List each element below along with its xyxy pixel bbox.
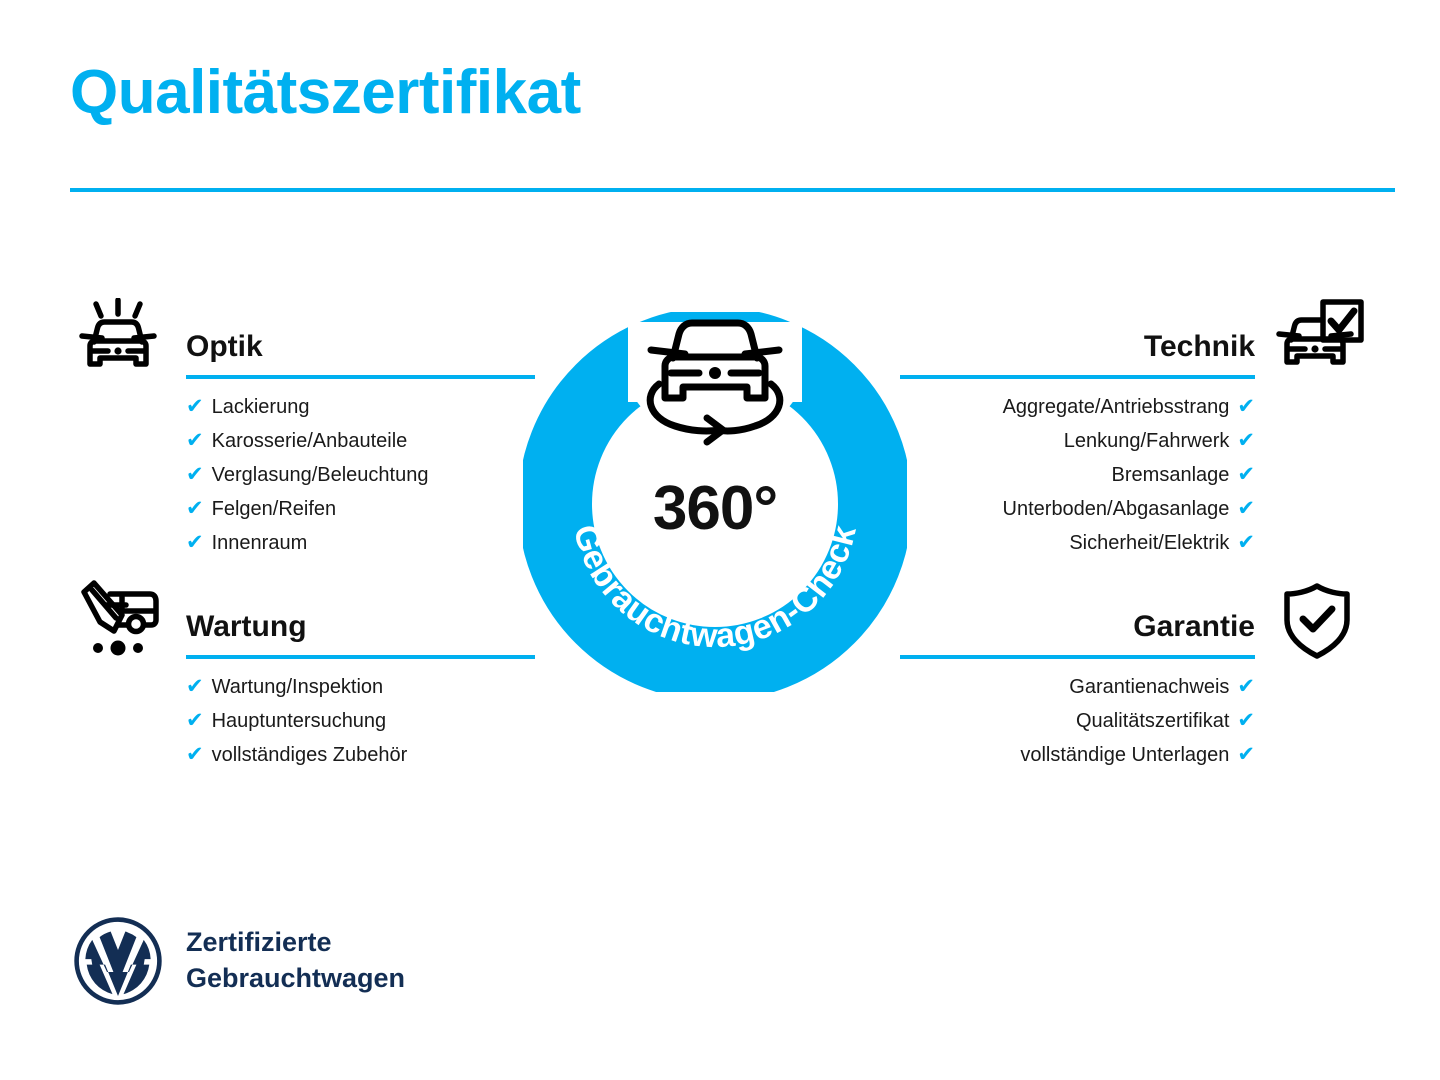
section-wartung-list: ✔Wartung/Inspektion ✔Hauptuntersuchung ✔… [70, 670, 535, 772]
section-garantie-title: Garantie [1133, 612, 1255, 642]
list-item-label: Felgen/Reifen [212, 492, 337, 526]
section-garantie: Garantie Garantienachweis✔ Qualitätszert… [900, 576, 1365, 772]
list-item: Garantienachweis✔ [900, 670, 1255, 704]
list-item: ✔Lackierung [186, 390, 535, 424]
section-technik-title: Technik [1144, 332, 1255, 362]
check-icon: ✔ [1237, 670, 1255, 704]
list-item: Aggregate/Antriebsstrang✔ [900, 390, 1255, 424]
section-optik-title-wrap: Optik [186, 296, 535, 384]
section-wartung-underline [186, 655, 535, 659]
section-wartung-title-wrap: Wartung [186, 576, 535, 664]
section-optik: Optik ✔Lackierung ✔Karosserie/Anbauteile… [70, 296, 535, 560]
list-item-label: Unterboden/Abgasanlage [1003, 492, 1230, 526]
check-icon: ✔ [1237, 424, 1255, 458]
check-icon: ✔ [186, 492, 204, 526]
list-item: ✔Verglasung/Beleuchtung [186, 458, 535, 492]
check-icon: ✔ [186, 670, 204, 704]
check-icon: ✔ [186, 738, 204, 772]
section-technik-title-wrap: Technik [900, 296, 1255, 384]
list-item: ✔Karosserie/Anbauteile [186, 424, 535, 458]
check-icon: ✔ [186, 526, 204, 560]
section-technik: Technik Aggregate/Antriebsstrang✔ Lenkun… [900, 296, 1365, 560]
check-icon: ✔ [1237, 390, 1255, 424]
gebrauchtwagen-check-badge: Gebrauchtwagen-Check 360° [520, 282, 910, 692]
check-icon: ✔ [186, 390, 204, 424]
list-item-label: Verglasung/Beleuchtung [212, 458, 429, 492]
list-item: ✔Hauptuntersuchung [186, 704, 535, 738]
badge-center-label: 360° [520, 478, 910, 540]
section-wartung: Wartung ✔Wartung/Inspektion ✔Hauptunters… [70, 576, 535, 772]
list-item: Sicherheit/Elektrik✔ [900, 526, 1255, 560]
list-item-label: Qualitätszertifikat [1076, 704, 1229, 738]
section-optik-header: Optik [70, 296, 535, 384]
list-item-label: vollständiges Zubehör [212, 738, 408, 772]
list-item-label: Lackierung [212, 390, 310, 424]
list-item: Unterboden/Abgasanlage✔ [900, 492, 1255, 526]
section-optik-list: ✔Lackierung ✔Karosserie/Anbauteile ✔Verg… [70, 390, 535, 560]
volkswagen-logo [72, 915, 164, 1007]
section-wartung-header: Wartung [70, 576, 535, 664]
certificate-page: Qualitätszertifikat Optik [0, 0, 1440, 1080]
list-item-label: Sicherheit/Elektrik [1069, 526, 1229, 560]
check-icon: ✔ [186, 424, 204, 458]
check-icon: ✔ [1237, 492, 1255, 526]
list-item: Lenkung/Fahrwerk✔ [900, 424, 1255, 458]
list-item-label: Karosserie/Anbauteile [212, 424, 408, 458]
list-item: vollständige Unterlagen✔ [900, 738, 1255, 772]
section-garantie-underline [900, 655, 1255, 659]
page-title: Qualitätszertifikat [70, 62, 581, 124]
check-icon: ✔ [1237, 458, 1255, 492]
header-divider [70, 188, 1395, 192]
check-icon: ✔ [186, 704, 204, 738]
list-item-label: vollständige Unterlagen [1020, 738, 1229, 772]
section-wartung-title: Wartung [186, 612, 307, 642]
section-garantie-header: Garantie [900, 576, 1365, 664]
section-garantie-list: Garantienachweis✔ Qualitätszertifikat✔ v… [900, 670, 1365, 772]
footer-line-2: Gebrauchtwagen [186, 961, 405, 997]
list-item: ✔Innenraum [186, 526, 535, 560]
car-checkbox-icon [1267, 296, 1367, 384]
list-item: ✔Felgen/Reifen [186, 492, 535, 526]
list-item-label: Innenraum [212, 526, 308, 560]
list-item: ✔vollständiges Zubehör [186, 738, 535, 772]
footer-line-1: Zertifizierte [186, 925, 405, 961]
list-item-label: Hauptuntersuchung [212, 704, 387, 738]
section-optik-underline [186, 375, 535, 379]
section-garantie-title-wrap: Garantie [900, 576, 1255, 664]
footer-brand: Zertifizierte Gebrauchtwagen [72, 915, 405, 1007]
section-technik-list: Aggregate/Antriebsstrang✔ Lenkung/Fahrwe… [900, 390, 1365, 560]
check-icon: ✔ [1237, 526, 1255, 560]
car-shine-icon [68, 296, 168, 384]
list-item: Bremsanlage✔ [900, 458, 1255, 492]
list-item: Qualitätszertifikat✔ [900, 704, 1255, 738]
section-technik-underline [900, 375, 1255, 379]
list-item: ✔Wartung/Inspektion [186, 670, 535, 704]
pen-car-service-icon [68, 576, 168, 664]
check-icon: ✔ [1237, 704, 1255, 738]
list-item-label: Garantienachweis [1069, 670, 1229, 704]
list-item-label: Lenkung/Fahrwerk [1064, 424, 1230, 458]
check-icon: ✔ [1237, 738, 1255, 772]
shield-check-icon [1267, 576, 1367, 664]
list-item-label: Wartung/Inspektion [212, 670, 384, 704]
list-item-label: Bremsanlage [1112, 458, 1230, 492]
section-optik-title: Optik [186, 332, 263, 362]
check-icon: ✔ [186, 458, 204, 492]
footer-brand-text: Zertifizierte Gebrauchtwagen [186, 925, 405, 996]
section-technik-header: Technik [900, 296, 1365, 384]
list-item-label: Aggregate/Antriebsstrang [1003, 390, 1230, 424]
